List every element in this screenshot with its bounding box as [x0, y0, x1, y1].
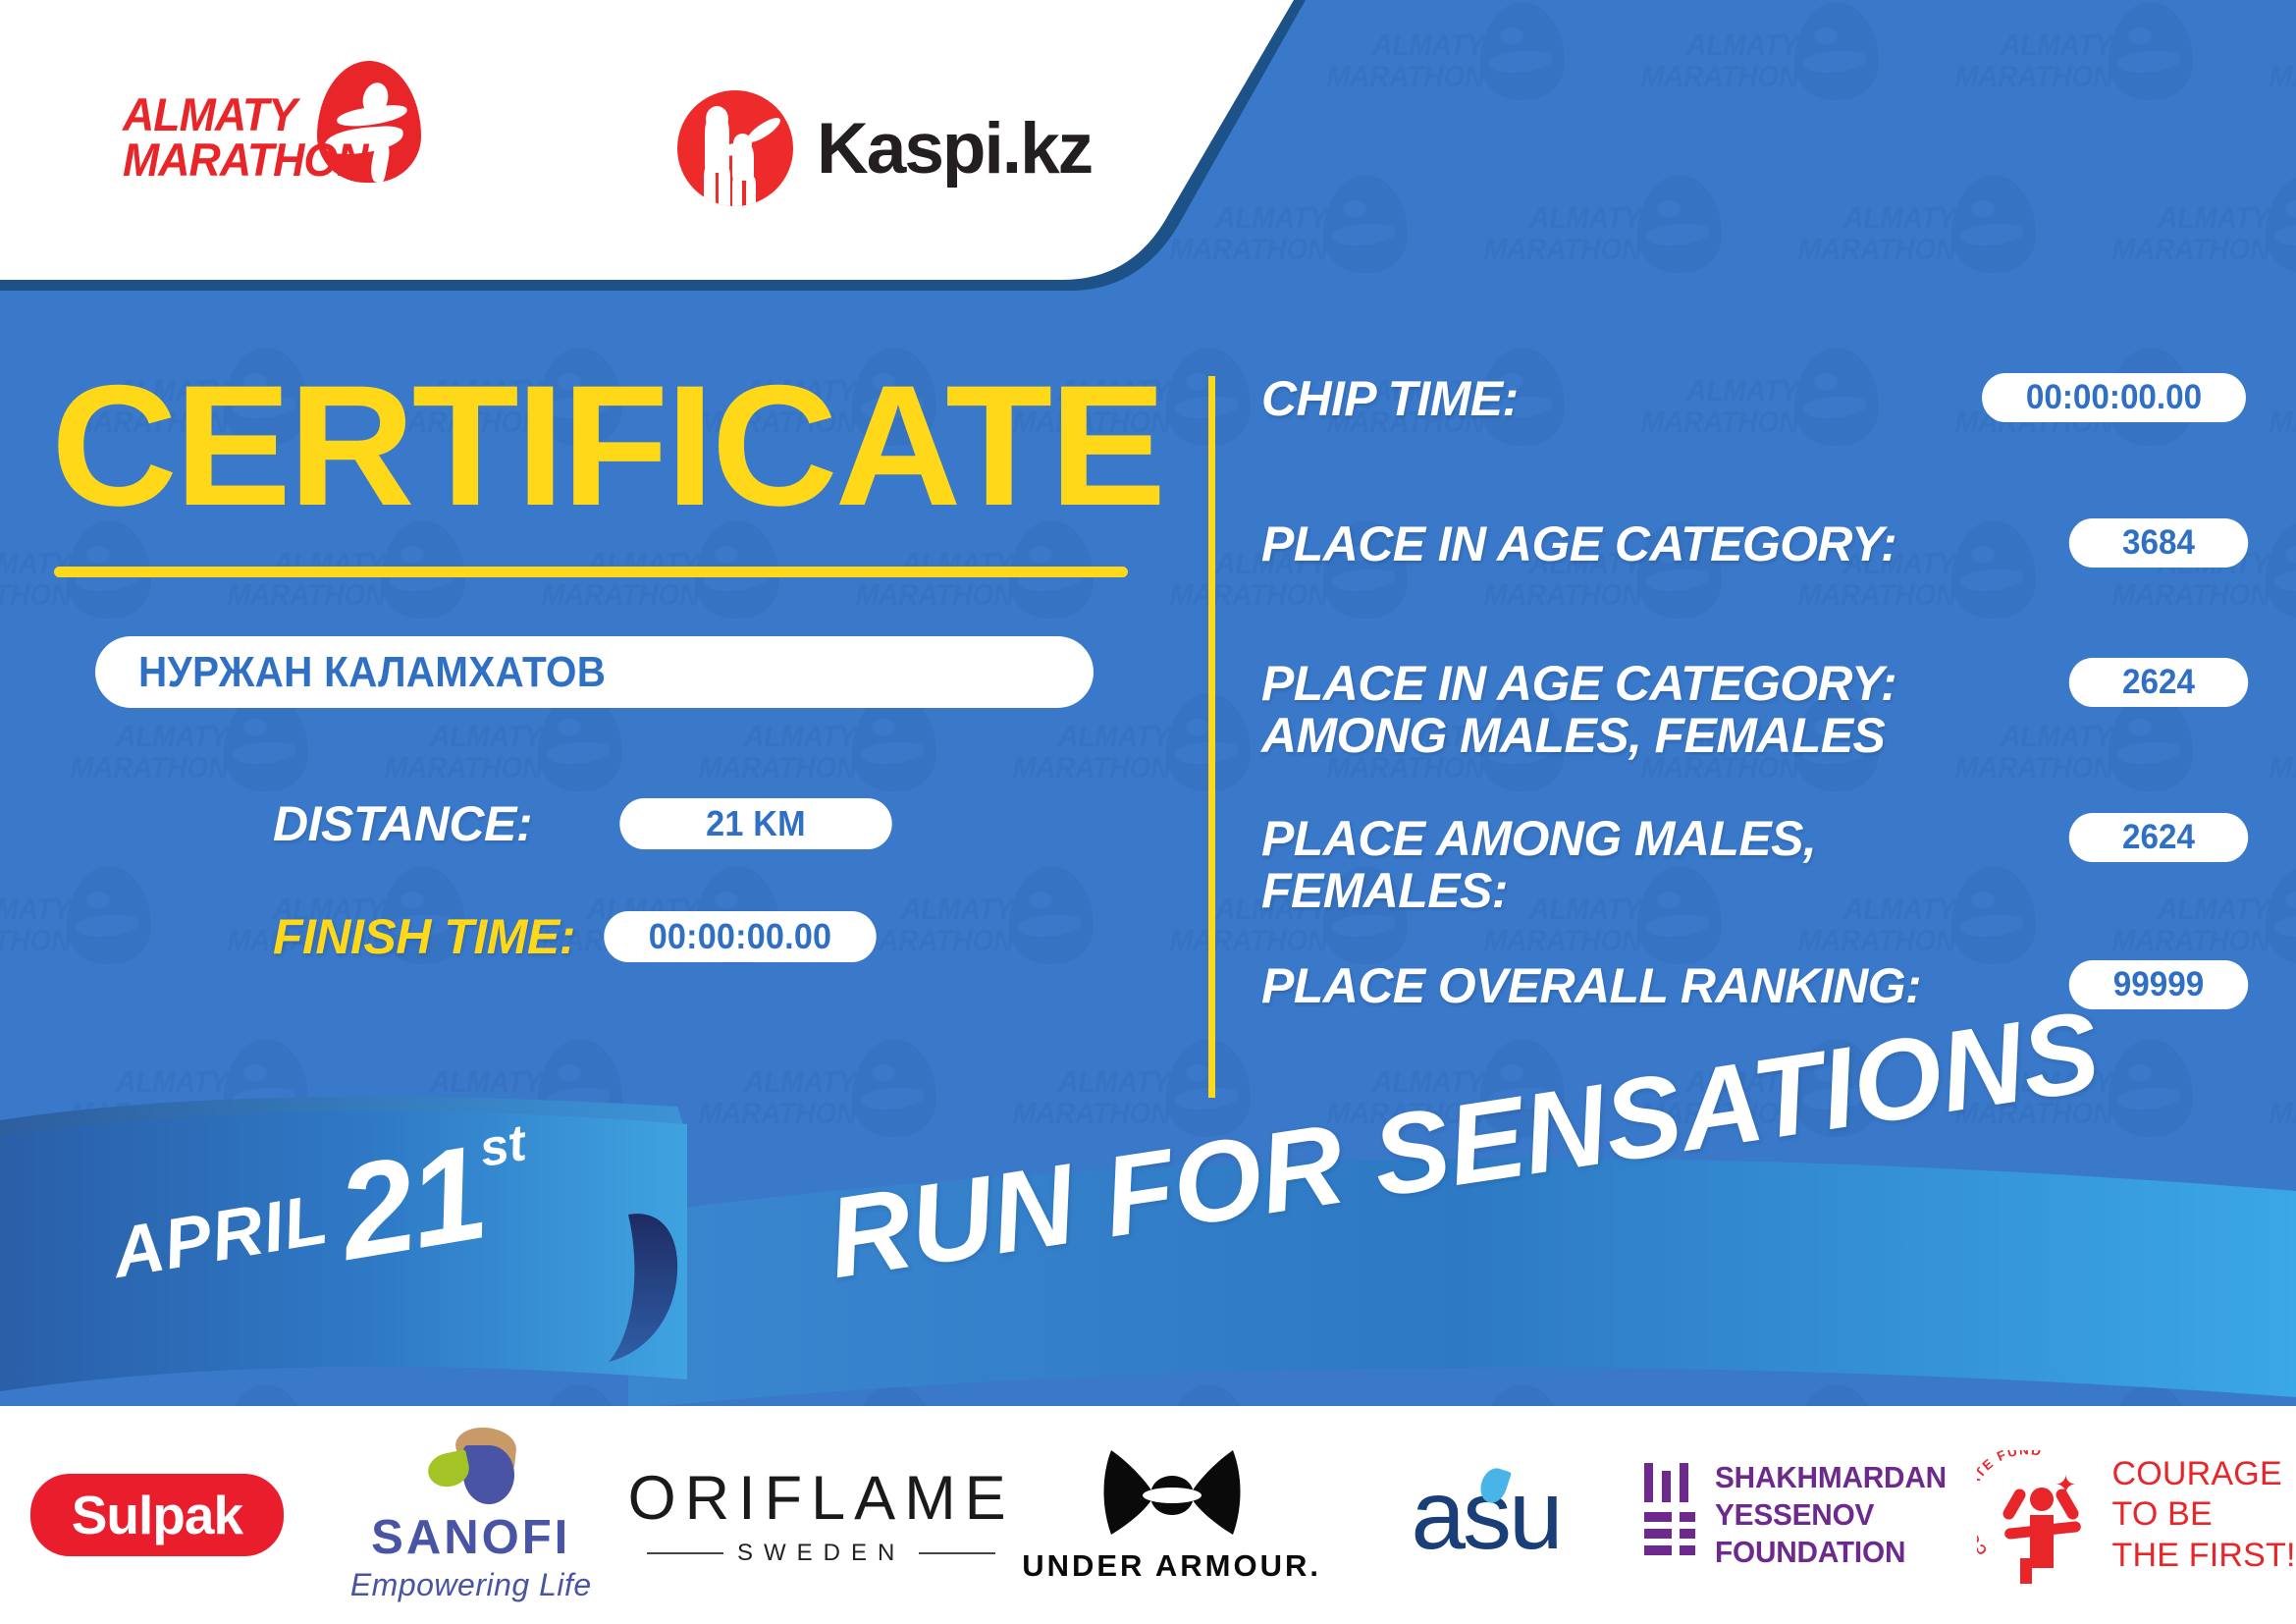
yessenov-line2: FOUNDATION [1715, 1535, 1905, 1569]
sponsor-oriflame[interactable]: ORIFLAME SWEDEN [628, 1417, 1015, 1613]
sanofi-wordmark: SANOFI [350, 1510, 592, 1565]
runner-teardrop-icon [1480, 2, 1565, 100]
runner-teardrop-icon [1951, 175, 2036, 273]
kaspi-wordmark: Kaspi.kz [817, 108, 1092, 189]
watermark-text: ALMATYMARATHON [0, 893, 71, 955]
place-age-category-value[interactable]: 3684 [2069, 518, 2248, 568]
watermark-text: ALMATYMARATHON [19, 721, 228, 783]
certificate-canvas: ALMATYMARATHONALMATYMARATHONALMATYMARATH… [0, 0, 2296, 1624]
watermark-text: ALMATYMARATHON [490, 548, 699, 610]
watermark-text: ALMATYMARATHON [2060, 202, 2269, 264]
watermark-tile: ALMATYMARATHON [1885, 0, 2199, 173]
sponsor-sulpak[interactable]: Sulpak [0, 1417, 314, 1613]
almaty-marathon-wordmark: ALMATY MARATHON [123, 92, 368, 183]
kaspi-family-circle-icon [677, 90, 793, 206]
under-armour-wordmark: UNDER ARMOUR. [1022, 1548, 1321, 1584]
distance-label: DISTANCE: [273, 795, 532, 852]
place-age-category-label: PLACE IN AGE CATEGORY: [1261, 518, 2039, 570]
courage-runner-icon: CORPORATE FUND ✦ [1983, 1452, 2097, 1578]
place-among-gender-value[interactable]: 2624 [2069, 813, 2248, 862]
yessenov-line1: SHAKHMARDAN YESSENOV [1715, 1460, 1947, 1532]
runner-teardrop-icon [852, 693, 936, 791]
watermark-text: ALMATYMARATHON [333, 721, 542, 783]
watermark-tile: ALMATYMARATHON [2199, 0, 2296, 173]
place-age-category-gender-value[interactable]: 2624 [2069, 658, 2248, 707]
label-line-1: PLACE AMONG MALES, [1261, 811, 1816, 866]
place-overall-value[interactable]: 99999 [2069, 960, 2248, 1009]
watermark-tile: ALMATYMARATHON [1571, 0, 1885, 173]
athlete-name-field[interactable]: НУРЖАН КАЛАМХАТОВ [95, 636, 1094, 708]
runner-teardrop-icon [2266, 175, 2296, 273]
runner-teardrop-icon [1637, 175, 1722, 273]
sanofi-glyph-icon [420, 1428, 522, 1504]
runner-teardrop-icon [2266, 866, 2296, 964]
sanofi-tagline: Empowering Life [350, 1567, 592, 1603]
runner-teardrop-icon [1794, 2, 1879, 100]
under-armour-icon [1095, 1446, 1249, 1541]
field-chip-time: CHIP TIME: 00:00:00.00 [1261, 373, 2253, 425]
sponsor-under-armour[interactable]: UNDER ARMOUR. [1015, 1417, 1329, 1613]
place-overall-label: PLACE OVERALL RANKING: [1261, 960, 2047, 1012]
title-underline [54, 567, 1128, 577]
runner-teardrop-icon [2266, 520, 2296, 619]
athlete-name-value: НУРЖАН КАЛАМХАТОВ [138, 648, 606, 697]
watermark-text: ALMATYMARATHON [1589, 29, 1798, 91]
kaspi-logo: Kaspi.kz [677, 90, 1092, 206]
watermark-text: ALMATYMARATHON [1903, 29, 2112, 91]
page-title: CERTIFICATE [51, 373, 1163, 521]
right-column: CHIP TIME: 00:00:00.00 PLACE IN AGE CATE… [1261, 373, 2253, 1100]
field-distance: DISTANCE: 21 KM [273, 795, 899, 852]
almaty-marathon-logo: ALMATY MARATHON [123, 61, 456, 193]
runner-teardrop-icon [1009, 866, 1094, 964]
finish-time-value[interactable]: 00:00:00.00 [604, 911, 876, 962]
watermark-tile: ALMATYMARATHON [0, 691, 314, 864]
courage-line3: THE FIRST! [2112, 1537, 2296, 1574]
watermark-tile: ALMATYMARATHON [0, 864, 157, 1037]
courage-line1: COURAGE [2112, 1455, 2282, 1492]
field-place-age-category: PLACE IN AGE CATEGORY: 3684 [1261, 518, 2253, 570]
label-line-1: PLACE IN AGE CATEGORY: [1261, 656, 1896, 711]
runner-teardrop-icon [538, 693, 622, 791]
yessenov-bars-icon [1642, 1463, 1689, 1567]
sponsor-courage-to-be-first[interactable]: CORPORATE FUND ✦ COURAGETO BETHE FIRST! [1982, 1417, 2296, 1613]
watermark-text: ALMATYMARATHON [2217, 29, 2296, 91]
watermark-text: ALMATYMARATHON [0, 548, 71, 610]
watermark-text: ALMATYMARATHON [961, 721, 1170, 783]
watermark-text: ALMATYMARATHON [647, 721, 856, 783]
runner-teardrop-icon [2109, 2, 2193, 100]
runner-teardrop-icon [67, 866, 151, 964]
finish-time-label: FINISH TIME: [273, 908, 575, 965]
sponsor-strip: Sulpak SANOFI Empowering Life ORIFLAME S… [0, 1406, 2296, 1624]
place-among-gender-label: PLACE AMONG MALES,FEMALES: [1261, 813, 2039, 917]
column-divider [1208, 376, 1215, 1098]
sulpak-wordmark: Sulpak [30, 1474, 284, 1556]
oriflame-wordmark: ORIFLAME [628, 1463, 1015, 1534]
distance-value[interactable]: 21 KM [619, 798, 891, 849]
watermark-tile: ALMATYMARATHON [2042, 173, 2296, 346]
oriflame-tagline: SWEDEN [737, 1540, 905, 1567]
event-day: 21 [332, 1136, 491, 1272]
watermark-tile: ALMATYMARATHON [1728, 173, 2042, 346]
watermark-text: ALMATYMARATHON [1746, 202, 1955, 264]
sponsor-yessenov-foundation[interactable]: SHAKHMARDAN YESSENOVFOUNDATION [1642, 1417, 1982, 1613]
courage-wordmark: COURAGETO BETHE FIRST! [2112, 1454, 2296, 1576]
chip-time-value[interactable]: 00:00:00.00 [1982, 373, 2246, 422]
marathon-logo-line1: ALMATY [123, 92, 368, 137]
watermark-text: ALMATYMARATHON [1432, 202, 1641, 264]
marathon-logo-line2: MARATHON [123, 137, 368, 183]
label-line-2: AMONG MALES, FEMALES [1261, 708, 1885, 763]
runner-teardrop-icon [224, 693, 308, 791]
sponsor-sanofi[interactable]: SANOFI Empowering Life [314, 1417, 628, 1613]
yessenov-wordmark: SHAKHMARDAN YESSENOVFOUNDATION [1715, 1459, 1971, 1570]
watermark-text: ALMATYMARATHON [176, 548, 385, 610]
place-age-category-gender-label: PLACE IN AGE CATEGORY:AMONG MALES, FEMAL… [1261, 658, 2039, 762]
field-place-among-gender: PLACE AMONG MALES,FEMALES: 2624 [1261, 813, 2253, 917]
field-place-overall: PLACE OVERALL RANKING: 99999 [1261, 960, 2253, 1012]
divider-left [647, 1552, 723, 1554]
sponsor-asu[interactable]: asu [1329, 1417, 1643, 1613]
header-panel: ALMATY MARATHON Kaspi.kz [0, 0, 1394, 295]
header-logos: ALMATY MARATHON Kaspi.kz [0, 0, 1178, 285]
watermark-tile: ALMATYMARATHON [1414, 173, 1728, 346]
label-line-2: FEMALES: [1261, 863, 1508, 918]
watermark-text: ALMATYMARATHON [804, 548, 1013, 610]
field-place-age-category-gender: PLACE IN AGE CATEGORY:AMONG MALES, FEMAL… [1261, 658, 2253, 762]
divider-right [919, 1552, 995, 1554]
courage-line2: TO BE [2112, 1495, 2213, 1533]
chip-time-label: CHIP TIME: [1261, 373, 1949, 425]
field-finish-time: FINISH TIME: 00:00:00.00 [273, 908, 883, 965]
